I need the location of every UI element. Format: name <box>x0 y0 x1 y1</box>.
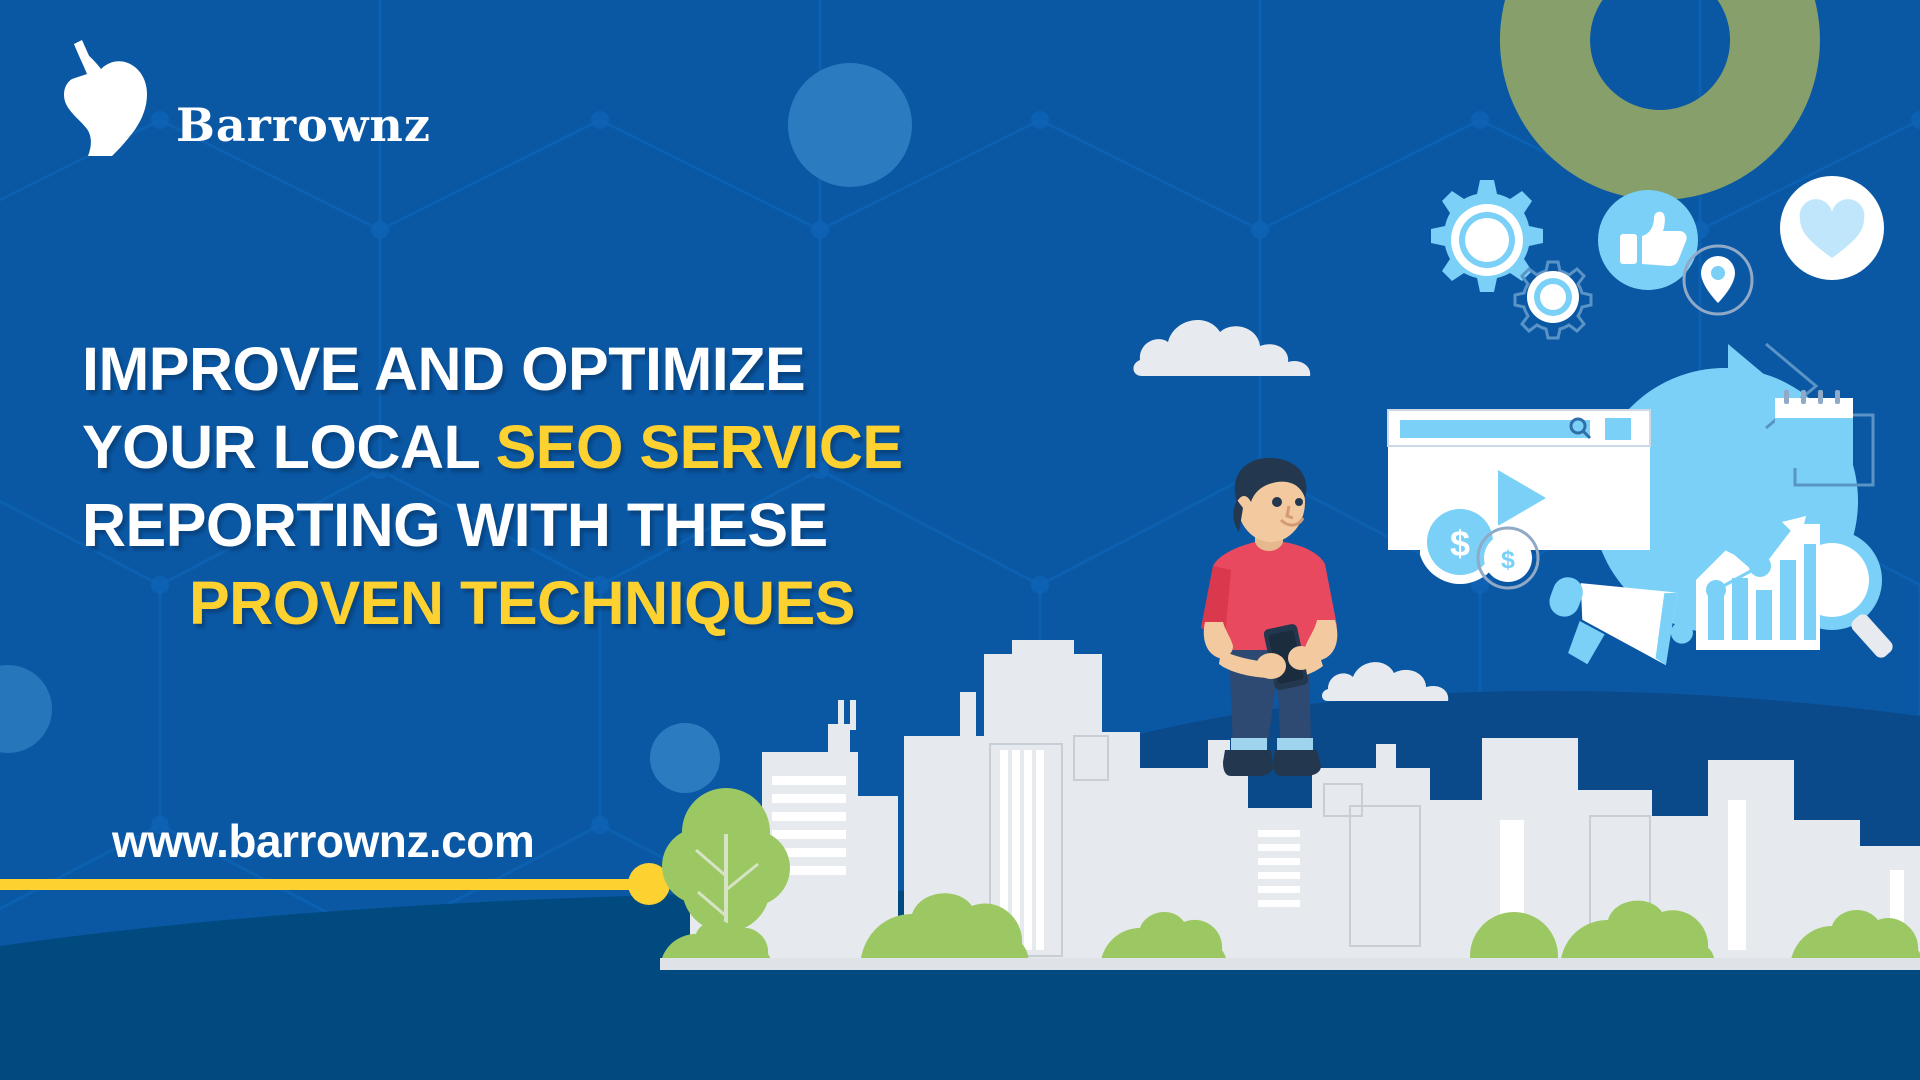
headline-seg-2a: YOUR LOCAL <box>82 413 496 481</box>
headline-seg-4: PROVEN TECHNIQUES <box>189 569 855 637</box>
seo-marketing-banner: Barrownz IMPROVE AND OPTIMIZE YOUR LOCAL… <box>0 0 1920 1080</box>
website-url[interactable]: www.barrownz.com <box>112 818 534 864</box>
brand-logo[interactable]: Barrownz <box>52 36 431 156</box>
blue-circle-small <box>650 723 720 793</box>
brand-wordmark: Barrownz <box>176 102 431 156</box>
headline-seg-2b: SEO SERVICE <box>496 413 903 481</box>
headline-seg-3: REPORTING WITH THESE <box>82 491 828 559</box>
headline-line-2: YOUR LOCAL SEO SERVICE <box>82 408 962 486</box>
blue-circle-large <box>1592 368 1858 634</box>
headline-line-3: REPORTING WITH THESE <box>82 486 962 564</box>
headline-seg-1: IMPROVE AND OPTIMIZE <box>82 335 805 403</box>
headline-line-4: PROVEN TECHNIQUES <box>82 564 962 642</box>
unicorn-head-icon <box>52 36 170 156</box>
headline-block: IMPROVE AND OPTIMIZE YOUR LOCAL SEO SERV… <box>82 330 962 642</box>
yellow-dot-marker <box>628 863 670 905</box>
yellow-underline-rule <box>0 879 648 890</box>
bottom-wave-shape <box>0 880 1920 1080</box>
headline-line-1: IMPROVE AND OPTIMIZE <box>82 330 962 408</box>
blue-circle-mid <box>788 63 912 187</box>
